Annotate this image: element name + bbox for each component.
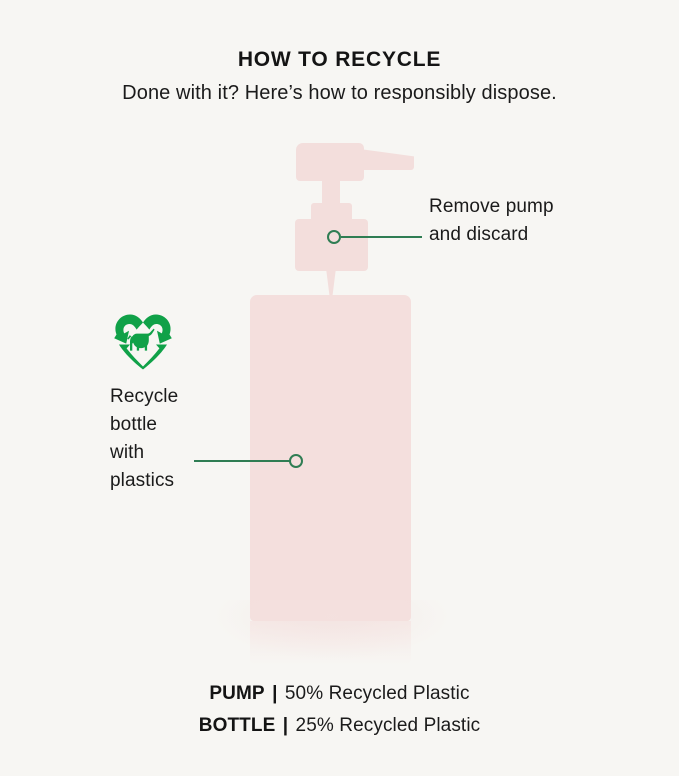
leader-dot-pump bbox=[327, 230, 341, 244]
spec-value-bottle: 25% Recycled Plastic bbox=[296, 715, 481, 736]
callout-recycle-bottle-line3: with bbox=[110, 439, 220, 467]
page-subtitle: Done with it? Here’s how to responsibly … bbox=[0, 82, 679, 105]
spec-row-pump: PUMP | 50% Recycled Plastic bbox=[0, 678, 679, 710]
pump-dip-tube-shape bbox=[326, 268, 336, 298]
page-title: HOW TO RECYCLE bbox=[0, 48, 679, 72]
recycle-heart-dog-icon bbox=[110, 310, 176, 372]
bottle-shadow-glow bbox=[212, 600, 452, 660]
pump-head-shape bbox=[296, 143, 364, 181]
bottle-body-shape bbox=[250, 295, 411, 621]
callout-recycle-bottle-line2: bottle bbox=[110, 411, 220, 439]
spec-label-pump: PUMP bbox=[209, 683, 264, 704]
pump-collar-base-shape bbox=[295, 219, 368, 271]
callout-remove-pump-line2: and discard bbox=[429, 221, 629, 249]
pump-bottle-illustration bbox=[0, 0, 679, 776]
spec-row-bottle: BOTTLE | 25% Recycled Plastic bbox=[0, 710, 679, 742]
callout-recycle-bottle-line4: plastics bbox=[110, 467, 220, 495]
pump-spout-shape bbox=[352, 148, 414, 170]
spec-label-bottle: BOTTLE bbox=[199, 715, 276, 736]
callout-remove-pump-line1: Remove pump bbox=[429, 193, 629, 221]
callout-recycle-bottle-line1: Recycle bbox=[110, 383, 220, 411]
callout-recycle-bottle: Recycle bottle with plastics bbox=[110, 383, 220, 495]
bottle-reflection bbox=[250, 621, 411, 665]
callout-remove-pump: Remove pump and discard bbox=[429, 193, 629, 249]
spec-value-pump: 50% Recycled Plastic bbox=[285, 683, 470, 704]
material-specs: PUMP | 50% Recycled Plastic BOTTLE | 25%… bbox=[0, 678, 679, 742]
pump-stem-shape bbox=[322, 172, 340, 208]
leader-dot-bottle bbox=[289, 454, 303, 468]
spec-separator-bottle: | bbox=[281, 715, 290, 736]
leader-line-pump bbox=[341, 236, 422, 238]
pump-collar-upper-shape bbox=[311, 203, 352, 223]
recycling-infographic: HOW TO RECYCLE Done with it? Here’s how … bbox=[0, 0, 679, 776]
spec-separator-pump: | bbox=[270, 683, 279, 704]
